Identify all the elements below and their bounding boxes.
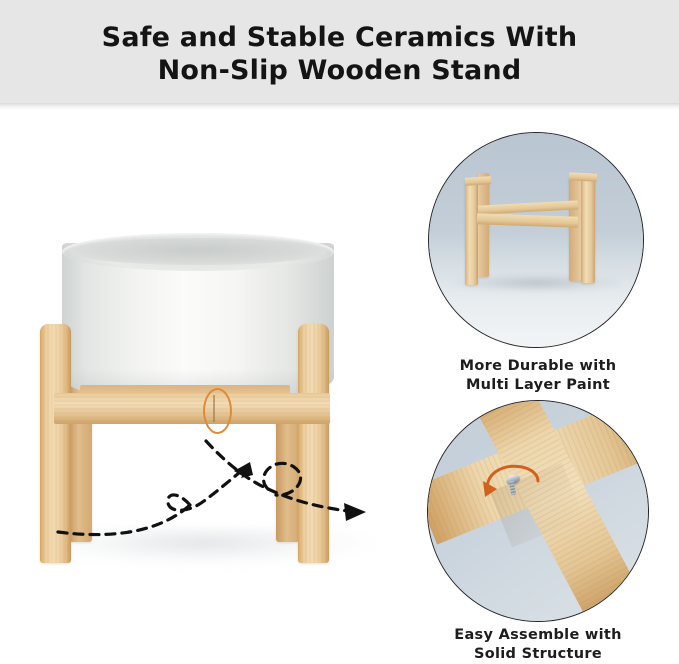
stand-leg-front-right xyxy=(298,324,329,563)
title-line-1: Safe and Stable Ceramics With xyxy=(0,21,679,54)
caption-easy-assemble: Easy Assemble with Solid Structure xyxy=(413,626,663,664)
header-divider xyxy=(0,103,679,110)
wooden-stand-front xyxy=(18,205,388,595)
caption-bottom-line-2: Solid Structure xyxy=(413,645,663,664)
mini-rail-upper xyxy=(478,200,578,214)
inset-easy-assemble[interactable] xyxy=(427,400,649,622)
caption-bottom-line-1: Easy Assemble with xyxy=(413,626,663,645)
mini-leg-right-back xyxy=(569,177,581,281)
mini-notch-right xyxy=(569,172,597,181)
mini-leg-right-front xyxy=(581,173,595,283)
page-title: Safe and Stable Ceramics With Non-Slip W… xyxy=(0,21,679,87)
caption-top-line-2: Multi Layer Paint xyxy=(413,376,663,395)
product-infographic: Safe and Stable Ceramics With Non-Slip W… xyxy=(0,0,679,663)
mini-rail-lower xyxy=(477,213,578,228)
inset-top-stand-image xyxy=(429,133,643,347)
mini-leg-left-front xyxy=(465,179,478,285)
stand-leg-front-left xyxy=(40,324,71,563)
rotate-arrow-icon xyxy=(480,457,550,509)
main-product-image xyxy=(18,205,388,595)
inset-more-durable[interactable] xyxy=(428,132,644,348)
mini-leg-left-back xyxy=(478,173,489,277)
caption-more-durable: More Durable with Multi Layer Paint xyxy=(413,357,663,395)
stand-rail-left xyxy=(54,393,214,424)
caption-top-line-1: More Durable with xyxy=(413,357,663,376)
title-line-2: Non-Slip Wooden Stand xyxy=(0,54,679,87)
center-joint-highlight xyxy=(203,388,232,434)
